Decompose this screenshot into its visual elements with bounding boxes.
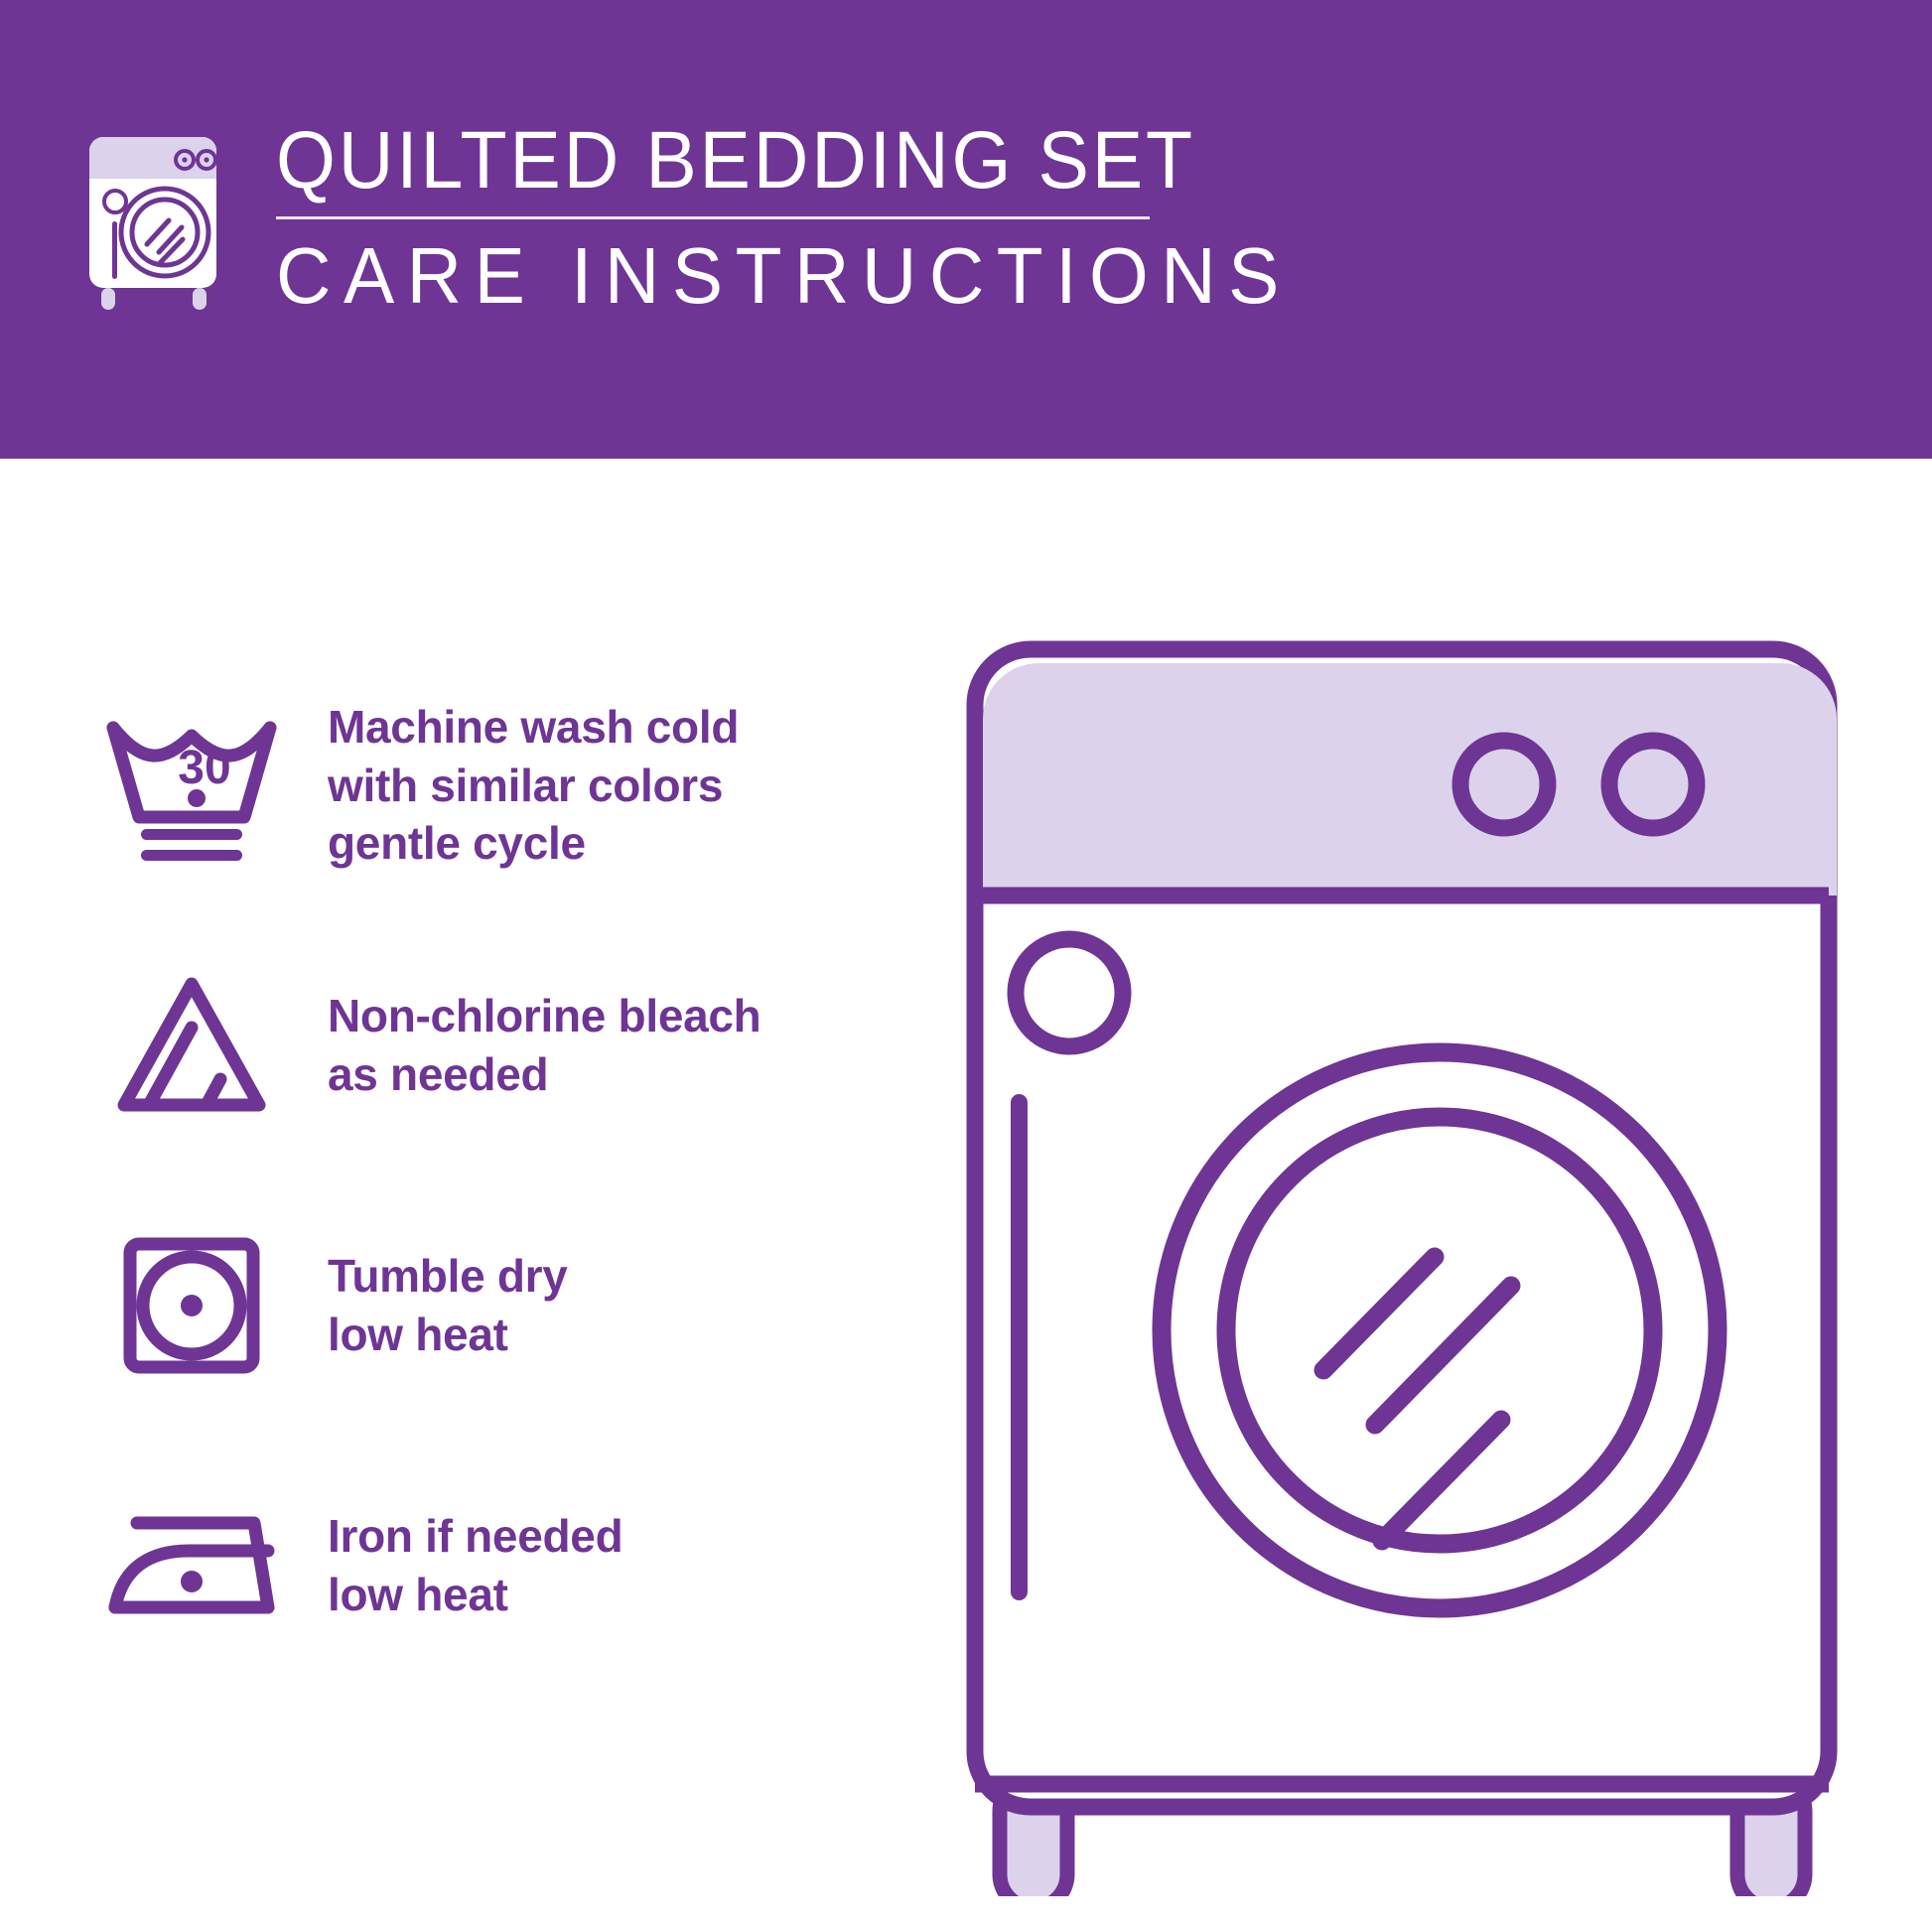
page-subtitle: CARE INSTRUCTIONS [276, 235, 1292, 317]
care-label-line: Non-chlorine bleach [328, 987, 760, 1045]
header-text-block: QUILTED BEDDING SET CARE INSTRUCTIONS [276, 119, 1334, 316]
list-item: Non-chlorine bleach as needed [77, 915, 951, 1175]
control-panel [983, 663, 1837, 896]
care-label-bleach: Non-chlorine bleach as needed [328, 987, 760, 1104]
care-label-line: with similar colors [328, 757, 739, 815]
non-chlorine-bleach-triangle-icon [77, 966, 306, 1125]
list-item: 30 Machine wash cold with similar colors… [77, 655, 951, 915]
title-divider [276, 216, 1150, 219]
care-label-line: Tumble dry [328, 1247, 568, 1306]
care-label-line: low heat [328, 1306, 568, 1364]
list-item: Iron if needed low heat [77, 1436, 951, 1696]
care-label-line: Machine wash cold [328, 698, 739, 757]
knob-right [1609, 741, 1697, 828]
front-load-washing-machine-illustration [953, 635, 1866, 1896]
wash-tub-30-gentle-icon: 30 [77, 706, 306, 865]
care-label-wash: Machine wash cold with similar colors ge… [328, 698, 739, 874]
knob-left [1460, 741, 1548, 828]
header-content: QUILTED BEDDING SET CARE INSTRUCTIONS [77, 119, 1334, 316]
iron-low-heat-icon [77, 1486, 306, 1645]
washing-machine-icon [77, 123, 236, 312]
care-label-line: Iron if needed [328, 1507, 622, 1566]
care-label-iron: Iron if needed low heat [328, 1507, 622, 1624]
page-title: QUILTED BEDDING SET [276, 119, 1271, 203]
list-item: Tumble dry low heat [77, 1175, 951, 1436]
header-banner: QUILTED BEDDING SET CARE INSTRUCTIONS [0, 0, 1932, 459]
vertical-bar [1011, 1094, 1028, 1600]
care-label-line: as needed [328, 1045, 760, 1104]
tumble-dry-low-heat-icon [77, 1226, 306, 1385]
wash-temperature-value: 30 [178, 742, 230, 794]
care-instruction-list: 30 Machine wash cold with similar colors… [77, 655, 951, 1696]
care-label-line: gentle cycle [328, 814, 739, 873]
care-label-dry: Tumble dry low heat [328, 1247, 568, 1364]
care-label-line: low heat [328, 1566, 622, 1624]
